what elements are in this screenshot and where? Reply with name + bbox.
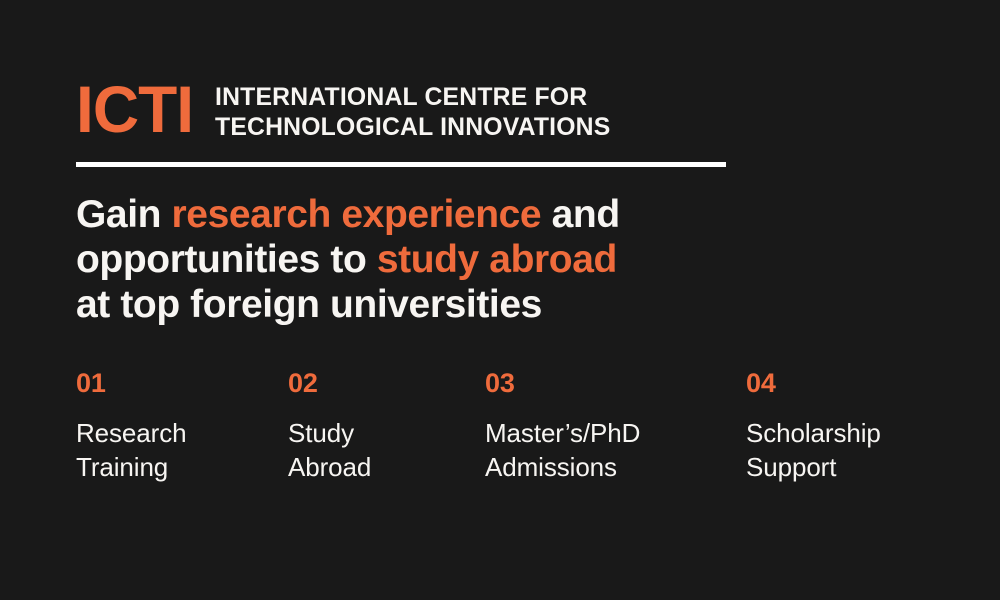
feature-label-03-line-2: Admissions — [485, 450, 746, 484]
feature-label-03: Master’s/PhD Admissions — [485, 416, 746, 484]
feature-label-02: Study Abroad — [288, 416, 485, 484]
headline-line-1-lead: Gain — [76, 193, 172, 236]
brand-name-line-2: TECHNOLOGICAL INNOVATIONS — [215, 112, 610, 142]
headline-accent-study-abroad: study abroad — [377, 238, 617, 281]
brand-lockup: ICTI INTERNATIONAL CENTRE FOR TECHNOLOGI… — [76, 76, 614, 142]
promo-poster: ICTI INTERNATIONAL CENTRE FOR TECHNOLOGI… — [0, 0, 1000, 600]
feature-label-04-line-1: Scholarship — [746, 416, 956, 450]
feature-label-01-line-2: Training — [76, 450, 288, 484]
feature-number-02: 02 — [288, 368, 485, 398]
feature-label-04: Scholarship Support — [746, 416, 956, 484]
header-divider-rule — [76, 162, 726, 167]
feature-label-02-line-1: Study — [288, 416, 485, 450]
feature-number-01: 01 — [76, 368, 288, 398]
headline-line-2: opportunities to study abroad — [76, 237, 716, 282]
brand-logo-icti: ICTI — [76, 78, 193, 140]
headline-accent-research-experience: research experience — [172, 193, 542, 236]
feature-item-study-abroad: 02 Study Abroad — [288, 368, 485, 484]
feature-label-01-line-1: Research — [76, 416, 288, 450]
feature-number-04: 04 — [746, 368, 956, 398]
headline-line-3: at top foreign universities — [76, 282, 716, 327]
feature-item-research-training: 01 Research Training — [76, 368, 288, 484]
headline-line-2-lead: opportunities to — [76, 238, 377, 281]
feature-label-04-line-2: Support — [746, 450, 956, 484]
feature-item-scholarship-support: 04 Scholarship Support — [746, 368, 956, 484]
headline-line-1: Gain research experience and — [76, 192, 716, 237]
feature-label-01: Research Training — [76, 416, 288, 484]
feature-item-masters-phd-admissions: 03 Master’s/PhD Admissions — [485, 368, 746, 484]
brand-full-name: INTERNATIONAL CENTRE FOR TECHNOLOGICAL I… — [215, 82, 614, 142]
feature-number-03: 03 — [485, 368, 746, 398]
headline-line-1-tail: and — [541, 193, 620, 236]
feature-label-03-line-1: Master’s/PhD — [485, 416, 746, 450]
feature-list: 01 Research Training 02 Study Abroad 03 … — [76, 368, 956, 484]
feature-label-02-line-2: Abroad — [288, 450, 485, 484]
headline: Gain research experience and opportuniti… — [76, 192, 716, 327]
brand-name-line-1: INTERNATIONAL CENTRE FOR — [215, 82, 610, 112]
